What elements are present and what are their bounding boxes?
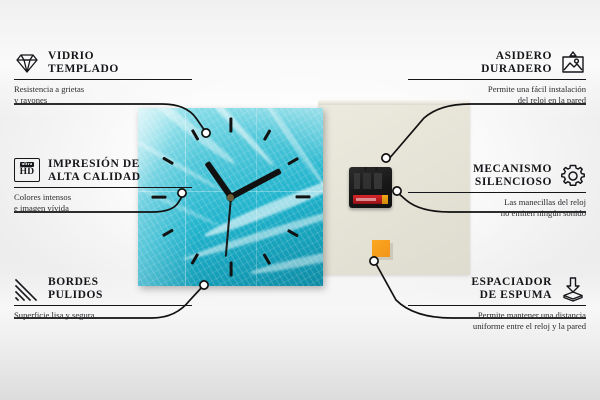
infographic-stage: VIDRIO TEMPLADO Resistencia a grietas y …	[0, 0, 600, 400]
feature-foam-spacer: ESPACIADOR DE ESPUMA Permite mantener un…	[408, 276, 586, 331]
gear-icon	[560, 163, 586, 189]
foam-spacer-pad	[372, 240, 390, 257]
feature-divider	[14, 79, 192, 80]
ultra-hd-icon: ultra HD	[14, 158, 40, 184]
mechanism-hanger-icon	[364, 167, 377, 171]
battery	[353, 195, 388, 204]
feature-header: BORDES PULIDOS	[14, 276, 192, 302]
feature-polished-edges: BORDES PULIDOS Superficie lisa y segura	[14, 276, 192, 321]
clock-second-hand	[224, 197, 231, 257]
feature-divider	[408, 79, 586, 80]
battery-label	[356, 198, 376, 201]
feature-header: ASIDERO DURADERO	[408, 50, 586, 76]
clock-tick	[190, 129, 198, 141]
feature-silent-mechanism: MECANISMO SILENCIOSO Las manecillas del …	[408, 163, 586, 218]
feature-divider	[408, 192, 586, 193]
diamond-icon	[14, 50, 40, 76]
clock-tick	[262, 253, 270, 265]
mechanism-detail	[354, 173, 387, 189]
clock-tick	[162, 229, 174, 237]
hanging-picture-icon	[560, 50, 586, 76]
clock-tick	[295, 195, 310, 198]
clock-mechanism	[349, 167, 392, 208]
feature-divider	[14, 305, 192, 306]
feature-durable-hanger: ASIDERO DURADERO Permite una fácil insta…	[408, 50, 586, 105]
clock-tick	[287, 229, 299, 237]
feature-title: ASIDERO DURADERO	[481, 50, 552, 76]
diagonal-lines-icon	[14, 276, 40, 302]
clock-tick	[262, 129, 270, 141]
feature-title: BORDES PULIDOS	[48, 276, 103, 302]
feature-hd-print: ultra HD IMPRESIÓN DE ALTA CALIDAD Color…	[14, 158, 192, 213]
feature-divider	[14, 187, 192, 188]
clock-tick	[287, 157, 299, 165]
arrow-down-pad-icon	[560, 276, 586, 302]
feature-title: ESPACIADOR DE ESPUMA	[471, 276, 552, 302]
clock-minute-hand	[229, 168, 281, 200]
clock-center-cap	[227, 194, 234, 201]
clock-tick	[229, 262, 232, 277]
clock-tick	[229, 118, 232, 133]
feature-header: VIDRIO TEMPLADO	[14, 50, 192, 76]
feature-title: MECANISMO SILENCIOSO	[473, 163, 552, 189]
feature-header: ultra HD IMPRESIÓN DE ALTA CALIDAD	[14, 158, 192, 184]
feature-title: IMPRESIÓN DE ALTA CALIDAD	[48, 158, 141, 184]
feature-header: MECANISMO SILENCIOSO	[408, 163, 586, 189]
battery-terminal	[382, 195, 388, 204]
feature-divider	[408, 305, 586, 306]
clock-tick	[190, 253, 198, 265]
ultra-hd-badge: ultra HD	[14, 158, 40, 182]
feature-header: ESPACIADOR DE ESPUMA	[408, 276, 586, 302]
feature-title: VIDRIO TEMPLADO	[48, 50, 119, 76]
feature-tempered-glass: VIDRIO TEMPLADO Resistencia a grietas y …	[14, 50, 192, 105]
clock-hour-hand	[204, 161, 233, 199]
